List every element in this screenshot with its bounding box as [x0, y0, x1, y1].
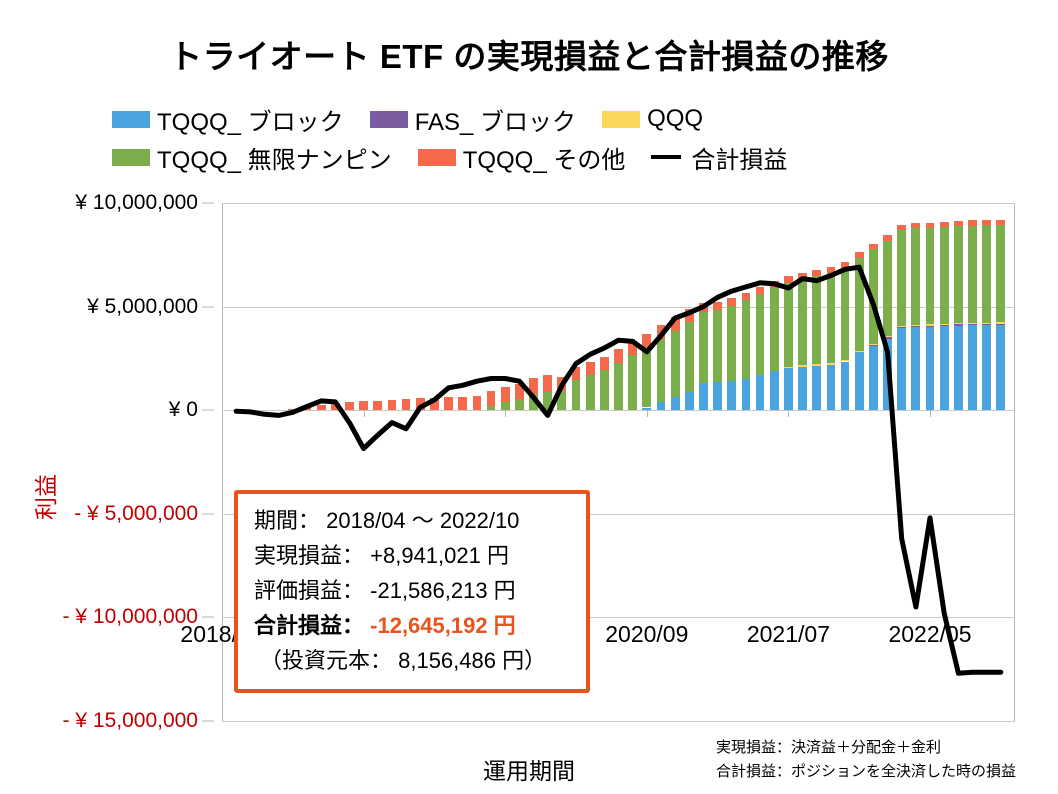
legend-label-tqqq-nanpin: TQQQ_ 無限ナンピン: [157, 140, 392, 175]
legend-item-tqqq-block[interactable]: TQQQ_ ブロック: [112, 102, 344, 137]
y-axis-tick-mark: [202, 617, 214, 618]
chart-page: トライオート ETF の実現損益と合計損益の推移 TQQQ_ ブロック FAS_…: [0, 0, 1058, 794]
chart-legend: TQQQ_ ブロック FAS_ ブロック QQQ TQQQ_ 無限ナンピン TQ…: [112, 100, 912, 176]
legend-item-qqq[interactable]: QQQ: [602, 105, 703, 133]
legend-swatch-tqqq-nanpin: [112, 149, 150, 166]
callout-valuation-value: -21,586,213 円: [370, 578, 516, 603]
page-title: トライオート ETF の実現損益と合計損益の推移: [0, 30, 1058, 78]
y-axis-tick-label: - ¥ 5,000,000: [74, 502, 198, 526]
callout-period-label: 期間：: [254, 508, 320, 533]
y-axis-tick-mark: [202, 721, 214, 722]
y-axis-title: 利益: [27, 437, 61, 557]
legend-item-fas-block[interactable]: FAS_ ブロック: [370, 102, 576, 137]
legend-swatch-tqqq-other: [418, 149, 456, 166]
callout-valuation-label: 評価損益：: [254, 578, 364, 603]
y-axis-tick-label: - ¥ 15,000,000: [63, 709, 198, 733]
legend-item-total-pl[interactable]: 合計損益: [651, 140, 787, 175]
callout-period-value: 2018/04 ～ 2022/10: [326, 508, 519, 533]
legend-row-1: TQQQ_ ブロック FAS_ ブロック QQQ: [112, 100, 912, 138]
gridline: [222, 721, 1015, 722]
callout-realized-label: 実現損益：: [254, 543, 364, 568]
footnote-realized: 実現損益：決済益＋分配金＋金利: [716, 736, 1016, 760]
callout-principal: （投資元本： 8,156,486 円）: [254, 643, 570, 678]
legend-item-tqqq-other[interactable]: TQQQ_ その他: [418, 140, 626, 175]
legend-label-fas-block: FAS_ ブロック: [415, 102, 576, 137]
legend-label-tqqq-block: TQQQ_ ブロック: [157, 102, 344, 137]
legend-swatch-qqq: [602, 111, 640, 128]
callout-total: 合計損益： -12,645,192 円: [254, 608, 570, 643]
legend-label-qqq: QQQ: [647, 105, 703, 133]
y-axis-tick-label: - ¥ 10,000,000: [63, 605, 198, 629]
y-axis-tick-label: ¥ 5,000,000: [87, 295, 198, 319]
footnote-total: 合計損益：ポジションを全決済した時の損益: [716, 760, 1016, 784]
callout-realized: 実現損益： +8,941,021 円: [254, 538, 570, 573]
callout-valuation: 評価損益： -21,586,213 円: [254, 573, 570, 608]
y-axis-tick-mark: [202, 513, 214, 514]
callout-realized-value: +8,941,021 円: [370, 543, 509, 568]
y-axis-tick-mark: [202, 203, 214, 204]
y-axis-tick-label: ¥ 10,000,000: [75, 191, 198, 215]
callout-total-value: -12,645,192 円: [370, 613, 516, 638]
y-axis-tick-mark: [202, 306, 214, 307]
y-axis-tick-mark: [202, 410, 214, 411]
legend-label-tqqq-other: TQQQ_ その他: [463, 140, 626, 175]
legend-item-tqqq-nanpin[interactable]: TQQQ_ 無限ナンピン: [112, 140, 392, 175]
legend-swatch-fas-block: [370, 111, 408, 128]
legend-row-2: TQQQ_ 無限ナンピン TQQQ_ その他 合計損益: [112, 138, 912, 176]
legend-swatch-total-pl: [651, 155, 681, 159]
callout-period: 期間： 2018/04 ～ 2022/10: [254, 503, 570, 538]
legend-swatch-tqqq-block: [112, 111, 150, 128]
legend-label-total-pl: 合計損益: [691, 140, 787, 175]
callout-total-label: 合計損益：: [254, 613, 364, 638]
y-axis-tick-label: ¥ 0: [169, 398, 198, 422]
summary-callout: 期間： 2018/04 ～ 2022/10 実現損益： +8,941,021 円…: [234, 490, 590, 693]
footnotes: 実現損益：決済益＋分配金＋金利 合計損益：ポジションを全決済した時の損益: [716, 736, 1016, 784]
